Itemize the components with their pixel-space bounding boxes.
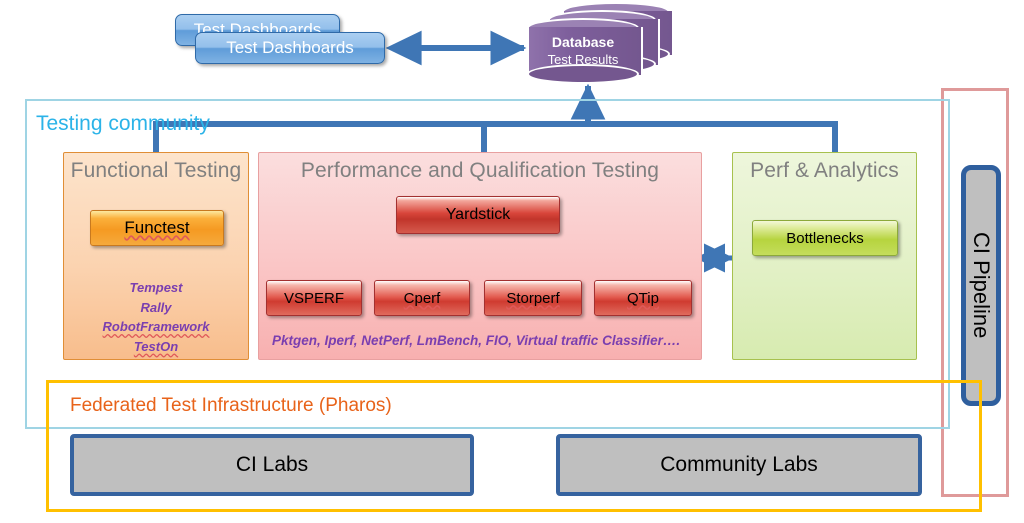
qtip-button-label: QTip [627,290,659,307]
functest-button-label: Functest [124,218,189,238]
testing-community-label: Testing community [36,112,210,136]
test-dashboards-front-card[interactable]: Test Dashboards [195,32,385,64]
database-subtitle: Test Results [548,52,619,68]
diagram-canvas: Test Dashboards Test Dashboards Database… [0,0,1024,523]
performance-testing-title: Performance and Qualification Testing [259,159,701,183]
tool-rally: Rally [63,298,249,318]
qtip-button[interactable]: QTip [594,280,692,316]
pharos-label: Federated Test Infrastructure (Pharos) [70,395,392,417]
perf-analytics-panel[interactable]: Perf & Analytics [732,152,917,360]
tool-tempest: Tempest [63,278,249,298]
database-title: Database [552,34,614,52]
performance-testing-panel[interactable]: Performance and Qualification Testing [258,152,702,360]
ci-pipeline-label: CI Pipeline [966,170,996,401]
ci-pipeline-bar[interactable]: CI Pipeline [961,165,1001,406]
perf-analytics-title: Perf & Analytics [733,159,916,183]
yardstick-button-label: Yardstick [446,206,511,224]
test-dashboards-front-label: Test Dashboards [226,38,354,58]
database-cylinder-front[interactable]: Database Test Results [527,18,639,84]
storperf-button-label: Storperf [506,290,559,307]
bottlenecks-button-label: Bottlenecks [786,230,864,247]
bottlenecks-button[interactable]: Bottlenecks [752,220,898,256]
ci-labs-label: CI Labs [236,453,308,477]
performance-footer-tools: Pktgen, Iperf, NetPerf, LmBench, FIO, Vi… [272,333,702,348]
functional-testing-tool-list: Tempest Rally RobotFramework TestOn [63,278,249,356]
yardstick-button[interactable]: Yardstick [396,196,560,234]
community-labs-label: Community Labs [660,453,818,477]
vsperf-button-label: VSPERF [284,290,344,307]
tool-teston: TestOn [63,337,249,357]
community-labs-box[interactable]: Community Labs [556,434,922,496]
vsperf-button[interactable]: VSPERF [266,280,362,316]
functional-testing-title: Functional Testing [64,159,248,183]
ci-labs-box[interactable]: CI Labs [70,434,474,496]
cperf-button-label: Cperf [404,290,441,307]
tool-robotframework: RobotFramework [63,317,249,337]
storperf-button[interactable]: Storperf [484,280,582,316]
functest-button[interactable]: Functest [90,210,224,246]
cperf-button[interactable]: Cperf [374,280,470,316]
